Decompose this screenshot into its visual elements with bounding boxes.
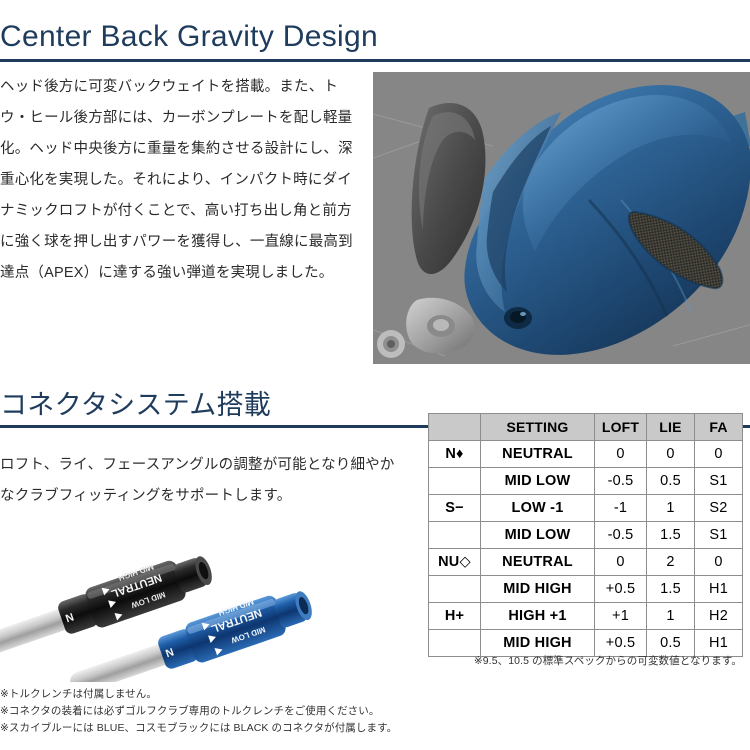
footnotes: ※トルクレンチは付属しません。 ※コネクタの装着には必ずゴルフクラブ専用のトルク… xyxy=(0,686,430,737)
connector-description: ロフト、ライ、フェースアングルの調整が可能となり細やかなクラブフィッティングをサ… xyxy=(0,450,400,512)
cell-lie: 1.5 xyxy=(647,576,695,603)
cell-setting: NEUTRAL xyxy=(481,549,595,576)
cell-code: H+ xyxy=(429,603,481,630)
connector-sleeves-illustration: N NEUTRAL MID HIGH MID LOW N NEUTRAL MID… xyxy=(0,512,420,682)
cell-fa: H1 xyxy=(695,576,743,603)
driver-head-image xyxy=(373,72,750,364)
cell-loft: -0.5 xyxy=(595,522,647,549)
col-header-setting: SETTING xyxy=(481,414,595,441)
footnote-item: ※スカイブルーには BLUE、コスモブラックには BLACK のコネクタが付属し… xyxy=(0,720,430,737)
cell-loft: 0 xyxy=(595,441,647,468)
cell-fa: S1 xyxy=(695,522,743,549)
col-header-loft: LOFT xyxy=(595,414,647,441)
cell-lie: 1 xyxy=(647,603,695,630)
heading-divider xyxy=(0,59,750,62)
connector-sleeves-image: N NEUTRAL MID HIGH MID LOW N NEUTRAL MID… xyxy=(0,512,420,682)
gravity-description: ヘッド後方に可変バックウェイトを搭載。また、トウ・ヒール後方部には、カーボンプレ… xyxy=(0,72,360,289)
cell-loft: +1 xyxy=(595,603,647,630)
connector-paragraph: ロフト、ライ、フェースアングルの調整が可能となり細やかなクラブフィッティングをサ… xyxy=(0,450,400,512)
col-header-code xyxy=(429,414,481,441)
table-row: H+ HIGH +1 +1 1 H2 xyxy=(429,603,743,630)
cell-setting: MID HIGH xyxy=(481,630,595,657)
table-row: MID LOW -0.5 0.5 S1 xyxy=(429,468,743,495)
cell-setting: MID LOW xyxy=(481,522,595,549)
footnote-item: ※コネクタの装着には必ずゴルフクラブ専用のトルクレンチをご使用ください。 xyxy=(0,703,430,720)
cell-lie: 2 xyxy=(647,549,695,576)
spec-table-container: SETTING LOFT LIE FA N♦ NEUTRAL 0 0 0 MID… xyxy=(428,413,742,657)
footnote-item: ※トルクレンチは付属しません。 xyxy=(0,686,430,703)
table-row: N♦ NEUTRAL 0 0 0 xyxy=(429,441,743,468)
cell-fa: H2 xyxy=(695,603,743,630)
cell-fa: 0 xyxy=(695,549,743,576)
driver-head-illustration xyxy=(373,72,750,364)
cell-lie: 1 xyxy=(647,495,695,522)
table-row: NU◇ NEUTRAL 0 2 0 xyxy=(429,549,743,576)
table-header-row: SETTING LOFT LIE FA xyxy=(429,414,743,441)
cell-setting: MID LOW xyxy=(481,468,595,495)
cell-setting: MID HIGH xyxy=(481,576,595,603)
cell-lie: 1.5 xyxy=(647,522,695,549)
adjustment-spec-table: SETTING LOFT LIE FA N♦ NEUTRAL 0 0 0 MID… xyxy=(428,413,743,657)
cell-code: NU◇ xyxy=(429,549,481,576)
page-title: Center Back Gravity Design xyxy=(0,20,750,55)
table-row: MID HIGH +0.5 1.5 H1 xyxy=(429,576,743,603)
table-row: S− LOW -1 -1 1 S2 xyxy=(429,495,743,522)
table-row: MID LOW -0.5 1.5 S1 xyxy=(429,522,743,549)
cell-code xyxy=(429,468,481,495)
cell-code xyxy=(429,522,481,549)
cell-loft: +0.5 xyxy=(595,630,647,657)
cell-fa: S2 xyxy=(695,495,743,522)
cell-lie: 0.5 xyxy=(647,630,695,657)
gravity-section-heading: Center Back Gravity Design xyxy=(0,20,750,62)
cell-loft: -1 xyxy=(595,495,647,522)
cell-setting: LOW -1 xyxy=(481,495,595,522)
cell-code xyxy=(429,630,481,657)
cell-code: S− xyxy=(429,495,481,522)
spec-table-note: ※9.5、10.5 の標準スペックからの可変数値となります。 xyxy=(428,654,742,669)
gravity-paragraph: ヘッド後方に可変バックウェイトを搭載。また、トウ・ヒール後方部には、カーボンプレ… xyxy=(0,72,360,289)
cell-fa: H1 xyxy=(695,630,743,657)
cell-code xyxy=(429,576,481,603)
cell-fa: 0 xyxy=(695,441,743,468)
cell-code: N♦ xyxy=(429,441,481,468)
col-header-fa: FA xyxy=(695,414,743,441)
cell-loft: 0 xyxy=(595,549,647,576)
cell-loft: -0.5 xyxy=(595,468,647,495)
col-header-lie: LIE xyxy=(647,414,695,441)
table-row: MID HIGH +0.5 0.5 H1 xyxy=(429,630,743,657)
cell-loft: +0.5 xyxy=(595,576,647,603)
cell-lie: 0.5 xyxy=(647,468,695,495)
cell-setting: NEUTRAL xyxy=(481,441,595,468)
cell-fa: S1 xyxy=(695,468,743,495)
cell-lie: 0 xyxy=(647,441,695,468)
cell-setting: HIGH +1 xyxy=(481,603,595,630)
